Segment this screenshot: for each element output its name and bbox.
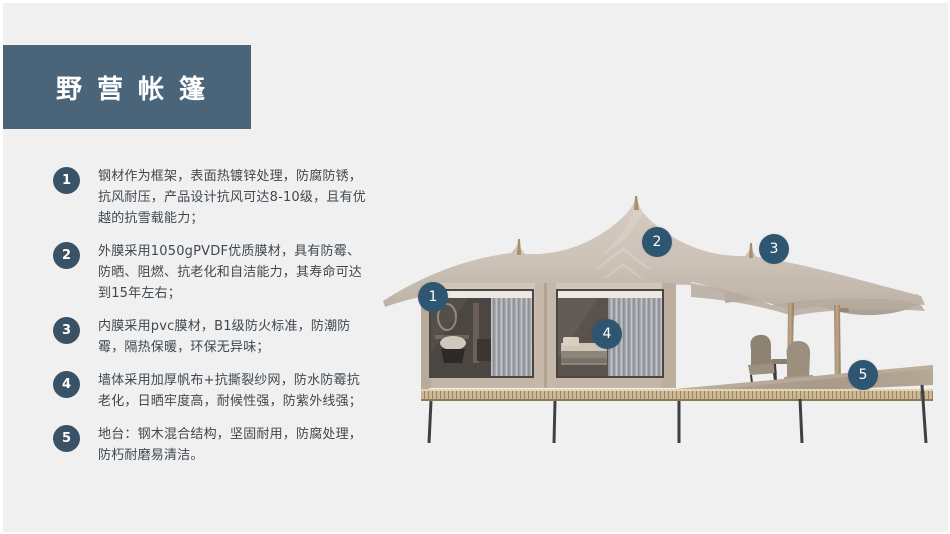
deck-fascia-bottom-edge [421, 399, 933, 401]
feature-text-1: 钢材作为框架，表面热镀锌处理，防腐防锈，抗风耐压，产品设计抗风可达8-10级，且… [98, 166, 373, 229]
feature-badge-2: 2 [53, 242, 80, 269]
tent-illustration: 1 2 3 4 5 [373, 153, 950, 443]
feature-item-1: 1 钢材作为框架，表面热镀锌处理，防腐防锈，抗风耐压，产品设计抗风可达8-10级… [53, 166, 373, 229]
wall-divider-edge [544, 283, 547, 388]
feature-text-3: 内膜采用pvc膜材，B1级防火标准，防潮防霉，隔热保暖，环保无异味； [98, 316, 373, 358]
page-title: 野营帐篷 [41, 69, 220, 106]
hotspot-marker-5[interactable]: 5 [848, 360, 878, 390]
feature-text-4: 墙体采用加厚帆布+抗撕裂纱网，防水防霉抗老化，日晒牢度高，耐候性强，防紫外线强； [98, 370, 373, 412]
tent-body [421, 283, 676, 391]
page-title-banner: 野营帐篷 [0, 45, 251, 129]
hotspot-marker-1[interactable]: 1 [418, 282, 448, 312]
feature-item-5: 5 地台：钢木混合结构，坚固耐用，防腐处理，防朽耐磨易清洁。 [53, 424, 373, 466]
feature-item-2: 2 外膜采用1050gPVDF优质膜材，具有防霉、防晒、阻燃、抗老化和自洁能力，… [53, 241, 373, 304]
hotspot-label-3: 3 [770, 241, 779, 257]
deck-fascia-top-edge [421, 389, 933, 391]
feature-badge-4: 4 [53, 371, 80, 398]
bed-frame [561, 358, 607, 363]
chair-left-seat [748, 363, 777, 375]
bathroom-basin [440, 336, 466, 350]
feature-text-2: 外膜采用1050gPVDF优质膜材，具有防霉、防晒、阻燃、抗老化和自洁能力，其寿… [98, 241, 373, 304]
feature-badge-3: 3 [53, 317, 80, 344]
feature-badge-5: 5 [53, 425, 80, 452]
feature-badge-1: 1 [53, 167, 80, 194]
feature-item-3: 3 内膜采用pvc膜材，B1级防火标准，防潮防霉，隔热保暖，环保无异味； [53, 316, 373, 358]
pole-bracket [839, 308, 849, 312]
bathroom-bin [477, 339, 491, 361]
feature-list: 1 钢材作为框架，表面热镀锌处理，防腐防锈，抗风耐压，产品设计抗风可达8-10级… [53, 166, 373, 478]
slide-canvas: 野营帐篷 1 钢材作为框架，表面热镀锌处理，防腐防锈，抗风耐压，产品设计抗风可达… [0, 0, 950, 534]
tent-image [373, 153, 950, 443]
hotspot-marker-4[interactable]: 4 [592, 319, 622, 349]
hotspot-marker-2[interactable]: 2 [642, 227, 672, 257]
hotspot-label-4: 4 [603, 326, 612, 342]
feature-item-4: 4 墙体采用加厚帆布+抗撕裂纱网，防水防霉抗老化，日晒牢度高，耐候性强，防紫外线… [53, 370, 373, 412]
window-left-curtain [491, 291, 532, 376]
hotspot-label-2: 2 [653, 234, 662, 250]
bathroom-basket [441, 349, 465, 363]
chair-right-back [787, 341, 811, 381]
hotspot-label-1: 1 [429, 289, 438, 305]
hotspot-marker-3[interactable]: 3 [759, 234, 789, 264]
hotspot-label-5: 5 [859, 367, 868, 383]
wall-right-end [662, 283, 676, 388]
feature-text-5: 地台：钢木混合结构，坚固耐用，防腐处理，防朽耐磨易清洁。 [98, 424, 373, 466]
